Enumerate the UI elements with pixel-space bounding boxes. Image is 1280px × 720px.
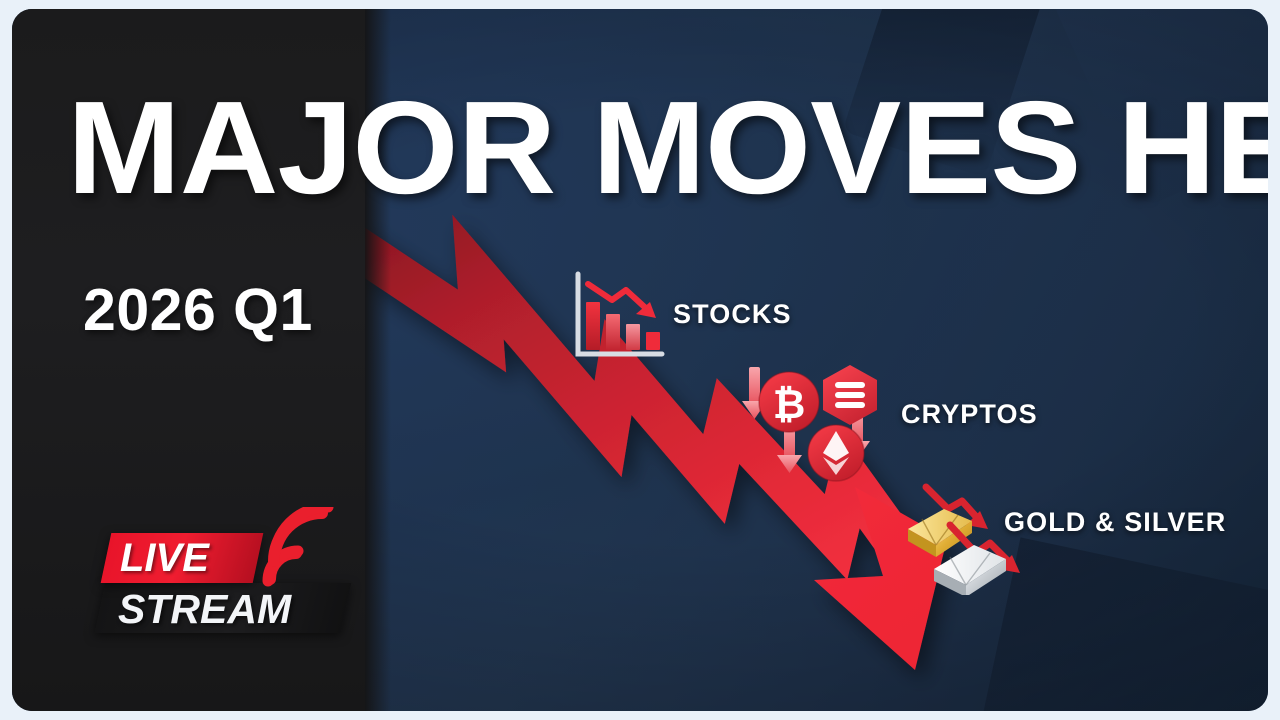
- broadcast-wifi-icon: [252, 507, 344, 587]
- stocks-icon-group: [570, 270, 666, 364]
- label-stocks: STOCKS: [673, 299, 792, 330]
- ethereum-icon: [808, 425, 864, 481]
- bitcoin-icon: ₿: [759, 372, 819, 432]
- thumbnail-card: MAJOR MOVES HEAD 2026 Q1: [12, 9, 1268, 711]
- label-gold-silver: GOLD & SILVER: [1004, 507, 1226, 538]
- bnb-hexagon-icon: [823, 365, 877, 425]
- stream-label: STREAM: [118, 587, 291, 631]
- gold-bar-icon: [908, 509, 972, 557]
- thumbnail-canvas: MAJOR MOVES HEAD 2026 Q1: [0, 0, 1280, 720]
- svg-text:₿: ₿: [773, 383, 806, 427]
- live-stream-badge[interactable]: LIVE STREAM: [100, 507, 352, 637]
- live-label: LIVE: [120, 536, 209, 580]
- subtitle-period: 2026 Q1: [83, 281, 313, 340]
- gold-silver-icon-group: [902, 483, 1032, 595]
- page-title: MAJOR MOVES HEAD: [67, 85, 1268, 212]
- cryptos-icon-group: ₿: [740, 361, 890, 487]
- bar-chart-down-icon: [570, 270, 666, 364]
- label-cryptos: CRYPTOS: [901, 399, 1038, 430]
